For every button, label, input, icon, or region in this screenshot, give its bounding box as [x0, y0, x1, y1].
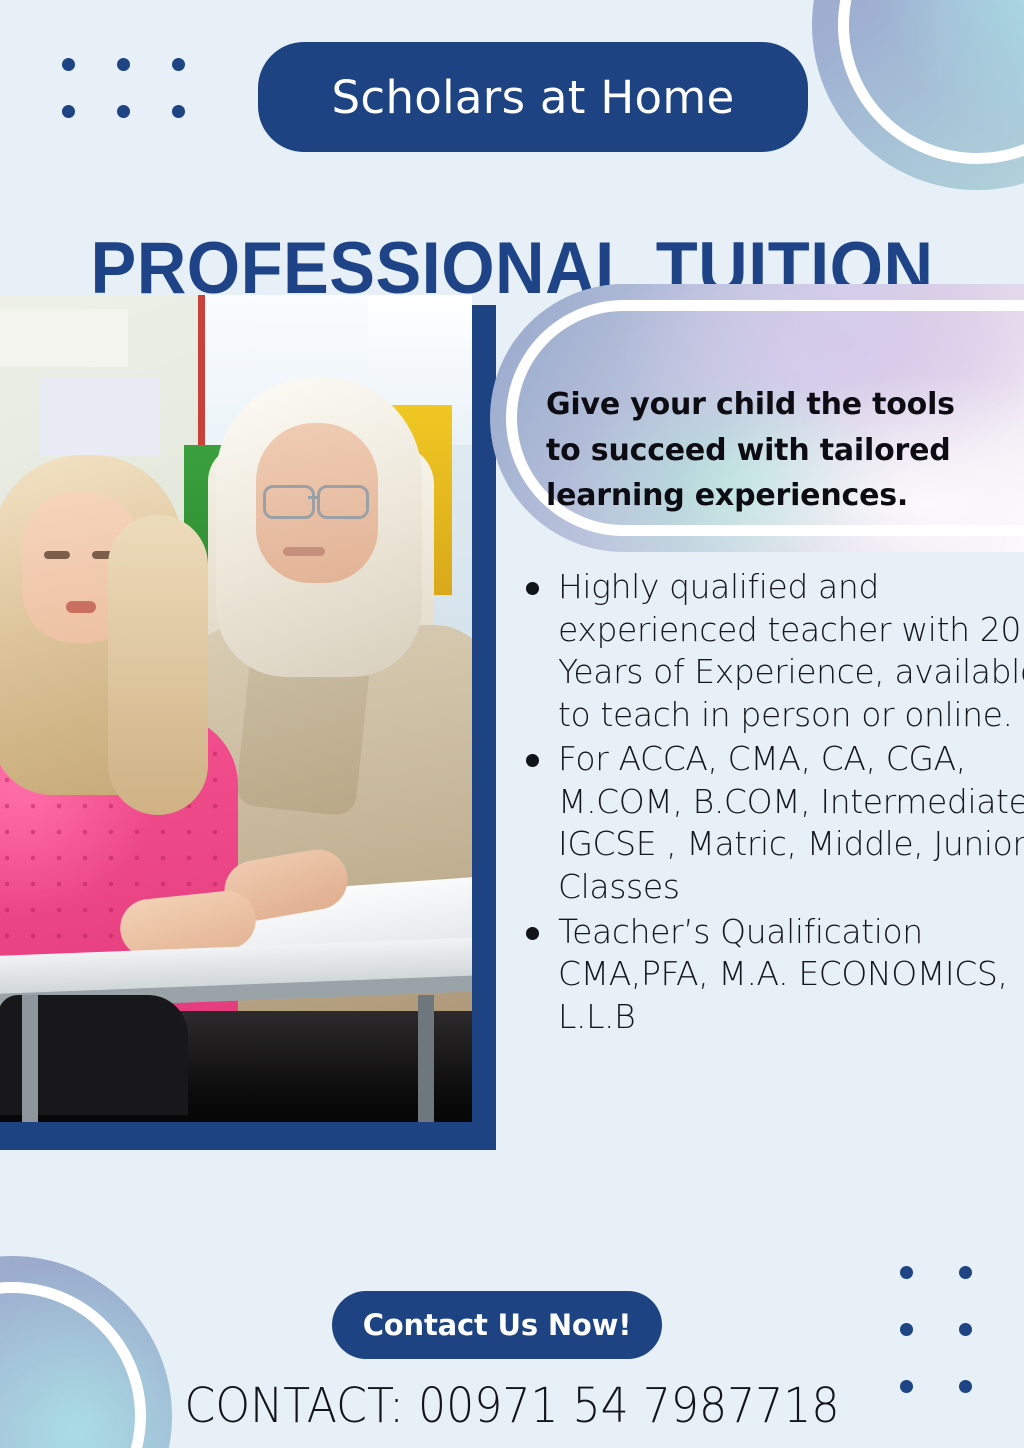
decorative-dot — [117, 105, 130, 118]
list-item: For ACCA, CMA, CA, CGA, M.COM, B.COM, In… — [558, 738, 1024, 908]
tagline-text: Give your child the tools to succeed wit… — [546, 382, 976, 519]
decorative-circle-top-right — [812, 0, 1024, 190]
contact-us-button-label: Contact Us Now! — [363, 1308, 632, 1342]
feature-list: Highly qualified and experienced teacher… — [512, 566, 1024, 1040]
list-item: Highly qualified and experienced teacher… — [558, 566, 1024, 736]
photo-student-eye-left — [44, 551, 70, 559]
photo-desk-leg — [418, 995, 434, 1122]
photo-note — [40, 377, 160, 455]
contact-phone-line: CONTACT: 00971 54 7987718 — [41, 1378, 983, 1434]
decorative-dot — [900, 1323, 913, 1336]
decorative-dot — [62, 58, 75, 71]
photo-note — [0, 309, 128, 367]
photo-student-mouth — [66, 601, 96, 613]
photo-teacher-glasses-bridge — [308, 496, 320, 499]
hero-photo — [0, 295, 472, 1122]
brand-name: Scholars at Home — [332, 71, 735, 124]
decorative-dot — [900, 1266, 913, 1279]
dot-grid-top-left — [62, 58, 185, 118]
list-item: Teacher’s Qualification CMA,PFA, M.A. EC… — [558, 911, 1024, 1039]
poster-canvas: Scholars at Home PROFESSIONAL TUITION — [0, 0, 1024, 1448]
decorative-dot — [959, 1323, 972, 1336]
decorative-dot — [959, 1266, 972, 1279]
brand-badge: Scholars at Home — [258, 42, 808, 152]
decorative-circle-ring — [838, 0, 1024, 164]
contact-us-button[interactable]: Contact Us Now! — [332, 1291, 662, 1359]
photo-teacher-glasses-left — [263, 485, 315, 519]
photo-teacher-glasses-right — [317, 485, 369, 519]
decorative-dot — [172, 105, 185, 118]
decorative-dot — [117, 58, 130, 71]
decorative-dot — [172, 58, 185, 71]
photo-teacher-mouth — [283, 547, 325, 556]
photo-desk-leg — [22, 995, 38, 1122]
decorative-dot — [62, 105, 75, 118]
photo-student-hair-strand — [108, 515, 208, 815]
dot-grid-bottom-right — [900, 1266, 972, 1393]
